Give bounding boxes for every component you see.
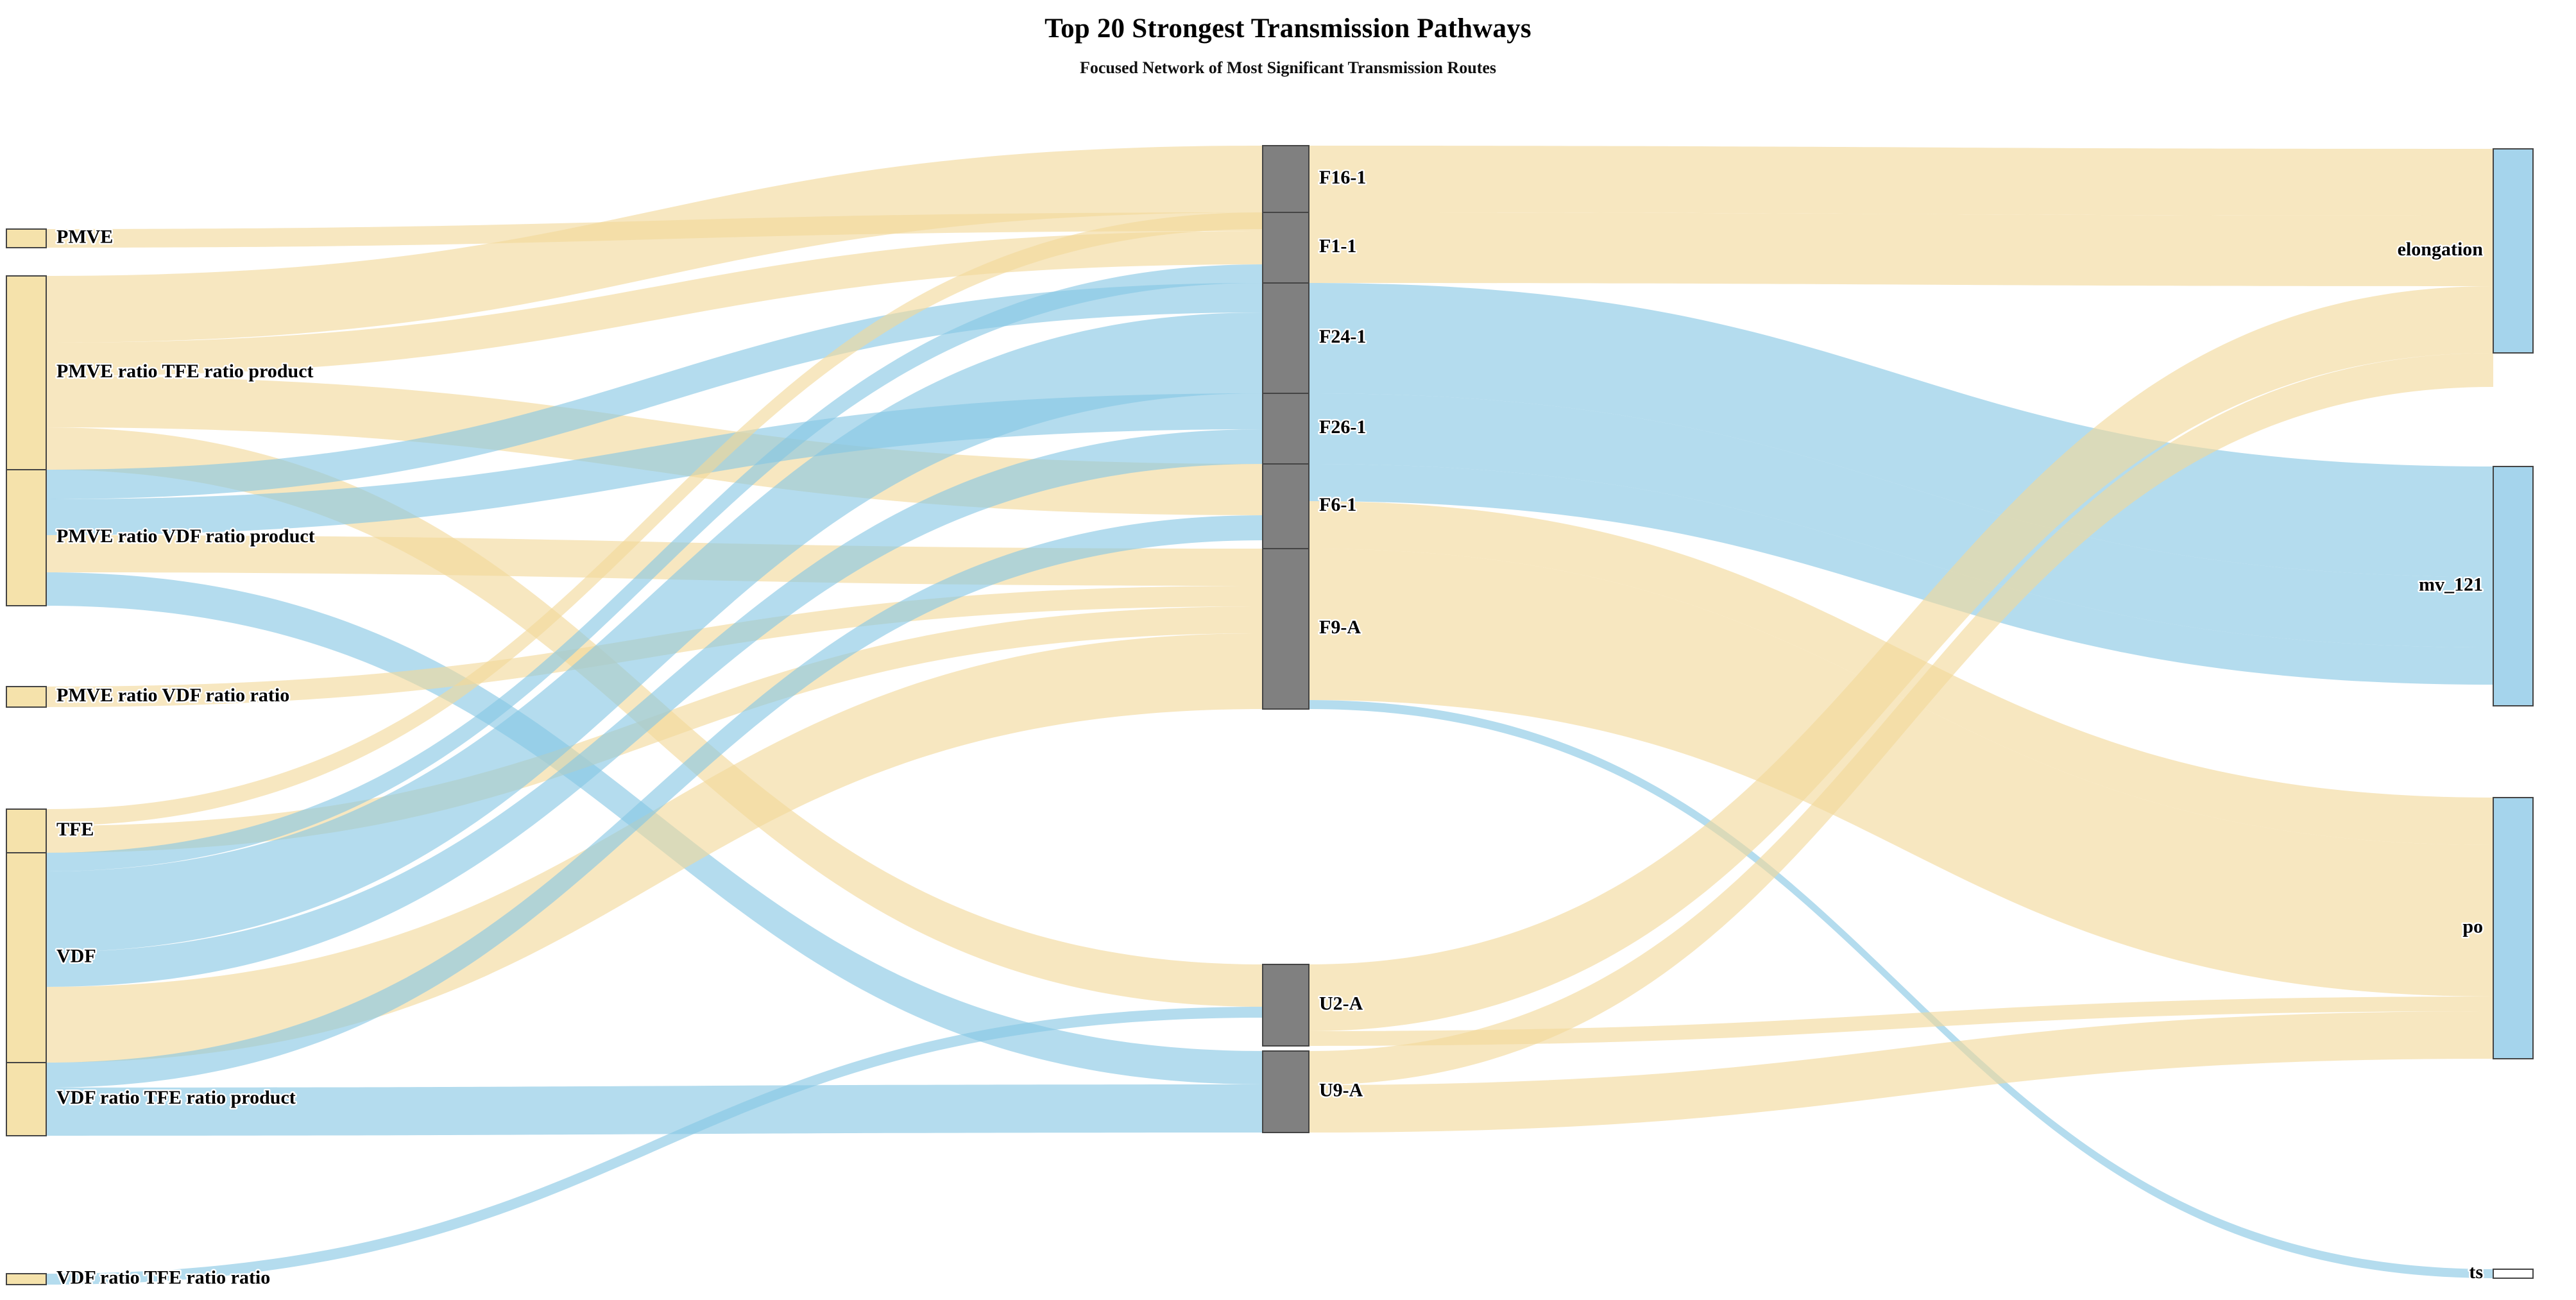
sankey-chart-root: Top 20 Strongest Transmission Pathways F… [0, 0, 2576, 1300]
sankey-node-label: elongation [2398, 239, 2484, 260]
sankey-node-label: TFE [56, 819, 94, 840]
sankey-link[interactable] [1309, 146, 2493, 216]
sankey-diagram: PMVEPMVE ratio TFE ratio productPMVE rat… [0, 0, 2576, 1300]
sankey-node-label: ts [2469, 1262, 2483, 1283]
sankey-node[interactable] [1263, 146, 1309, 212]
sankey-node[interactable] [6, 1063, 46, 1136]
sankey-node[interactable] [1263, 549, 1309, 709]
sankey-node[interactable] [6, 809, 46, 853]
sankey-node-label: VDF ratio TFE ratio product [56, 1087, 296, 1108]
sankey-node[interactable] [6, 276, 46, 470]
sankey-node[interactable] [1263, 212, 1309, 283]
sankey-node-label: PMVE ratio TFE ratio product [56, 361, 314, 382]
sankey-node-label: F1-1 [1319, 235, 1356, 257]
sankey-node-label: PMVE [56, 226, 113, 247]
sankey-node[interactable] [1263, 283, 1309, 393]
sankey-node[interactable] [2493, 798, 2533, 1059]
sankey-node[interactable] [1263, 464, 1309, 549]
sankey-node-label: F26-1 [1319, 416, 1366, 438]
sankey-node-label: PMVE ratio VDF ratio product [56, 526, 315, 547]
sankey-node[interactable] [6, 687, 46, 707]
sankey-node[interactable] [6, 470, 46, 606]
sankey-node[interactable] [1263, 964, 1309, 1046]
sankey-node-label: mv_121 [2419, 574, 2483, 595]
sankey-node[interactable] [1263, 1051, 1309, 1133]
sankey-node[interactable] [6, 853, 46, 1063]
sankey-node[interactable] [1263, 393, 1309, 464]
sankey-node[interactable] [2493, 149, 2533, 353]
sankey-node[interactable] [6, 1274, 46, 1285]
sankey-node-label: F16-1 [1319, 167, 1366, 188]
sankey-node[interactable] [6, 229, 46, 248]
sankey-node-label: F24-1 [1319, 326, 1366, 347]
sankey-node-label: VDF [56, 945, 96, 966]
sankey-node[interactable] [2493, 1269, 2533, 1278]
sankey-node-label: VDF ratio TFE ratio ratio [56, 1267, 270, 1288]
sankey-node-label: U2-A [1319, 993, 1363, 1014]
sankey-node-label: F6-1 [1319, 494, 1356, 515]
sankey-node-label: PMVE ratio VDF ratio ratio [56, 685, 289, 706]
sankey-link[interactable] [1309, 212, 2493, 286]
sankey-node-label: po [2462, 916, 2483, 937]
sankey-node-label: U9-A [1319, 1079, 1363, 1100]
sankey-node-label: F9-A [1319, 617, 1361, 638]
sankey-node[interactable] [2493, 466, 2533, 706]
